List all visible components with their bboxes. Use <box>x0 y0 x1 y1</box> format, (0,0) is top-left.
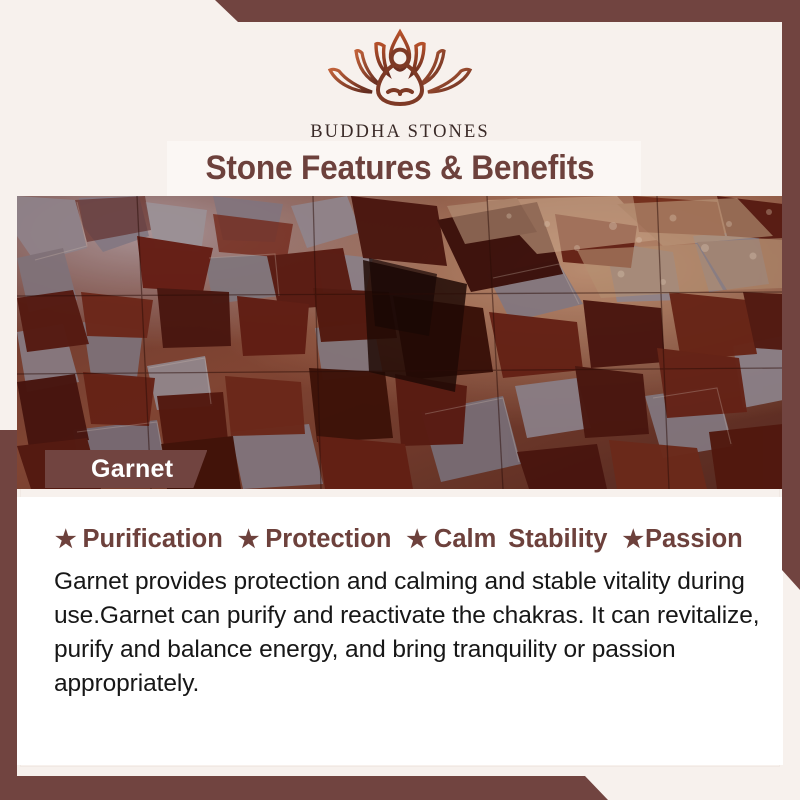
benefit-label: Purification <box>83 525 223 554</box>
brand-logo: BUDDHA STONES <box>0 24 800 143</box>
brand-name: BUDDHA STONES <box>0 122 800 143</box>
star-icon: ★ <box>622 528 644 552</box>
benefit-item-calm: ★ Calm <box>406 525 496 554</box>
benefit-item-protection: ★ Protection <box>238 525 392 554</box>
star-icon: ★ <box>238 528 260 552</box>
stone-name-label: Garnet <box>91 455 173 484</box>
benefit-label: Calm <box>434 525 496 554</box>
benefit-item-stability: Stability <box>508 525 607 554</box>
frame-right-accent <box>782 0 800 590</box>
header-section: BUDDHA STONES Stone Features & Benefits <box>0 0 800 196</box>
benefit-item-purification: ★ Purification <box>55 525 223 554</box>
lotus-meditation-figure-icon <box>314 24 486 116</box>
benefit-item-passion: ★ Passion <box>622 525 742 554</box>
photo-artwork <box>17 196 783 489</box>
frame-bottom-accent <box>0 776 800 800</box>
stone-name-banner: Garnet <box>45 450 207 488</box>
benefit-label: Protection <box>265 525 391 554</box>
benefit-label: Passion <box>645 525 743 554</box>
stone-benefits-poster: BUDDHA STONES Stone Features & Benefits <box>0 0 800 800</box>
page-title: Stone Features & Benefits <box>28 142 772 194</box>
star-icon: ★ <box>406 528 428 552</box>
description-paragraph: Garnet provides protection and calming a… <box>54 565 770 701</box>
star-icon: ★ <box>55 528 77 552</box>
garnet-crystal-cluster-photo <box>17 196 783 489</box>
description-card: ★ Purification ★ Protection ★ Calm Stabi… <box>17 497 783 765</box>
frame-left-accent <box>0 430 17 800</box>
benefit-label: Stability <box>508 525 607 554</box>
benefits-list: ★ Purification ★ Protection ★ Calm Stabi… <box>55 525 767 554</box>
